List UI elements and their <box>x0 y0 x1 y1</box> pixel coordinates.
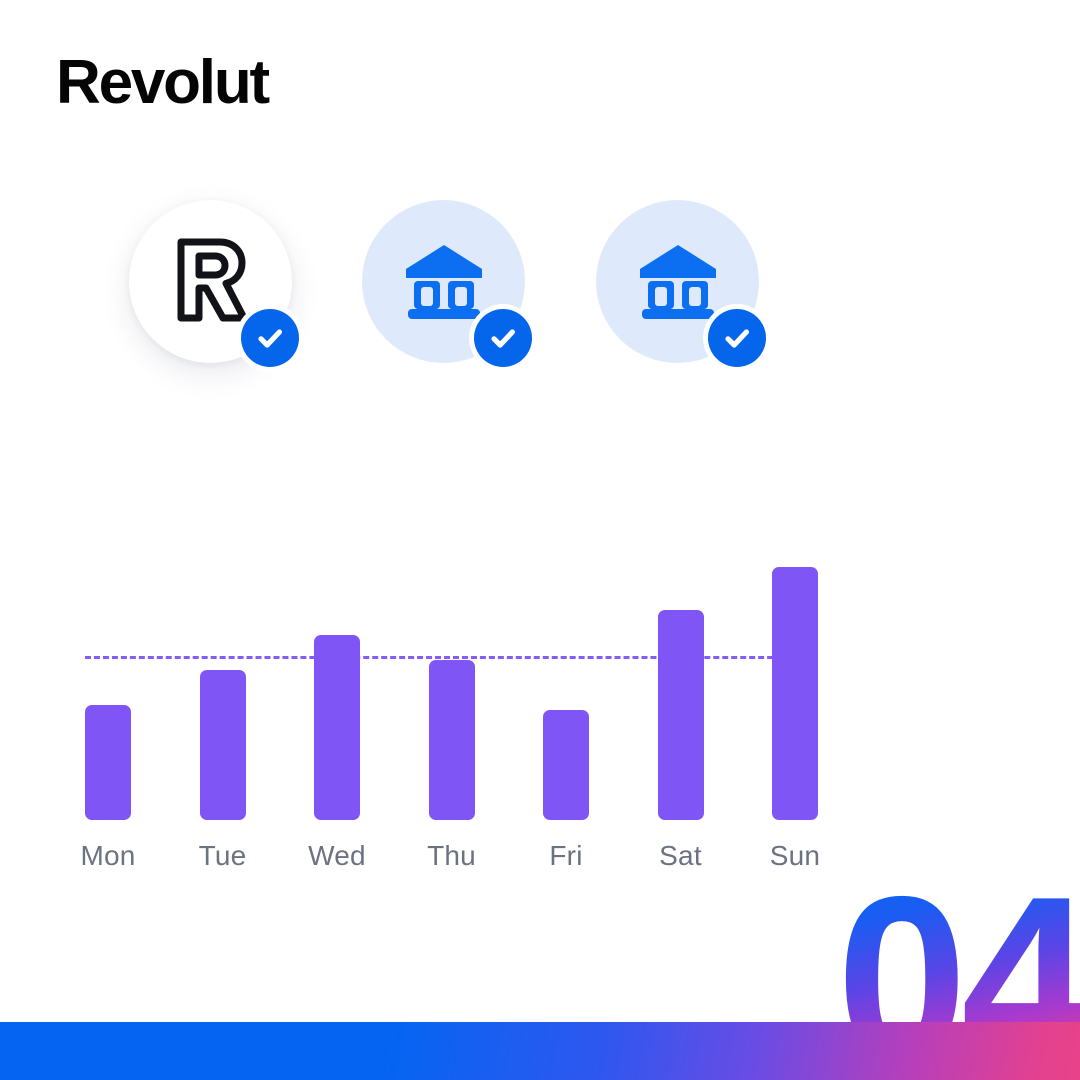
bank-icon <box>402 243 486 321</box>
chart-bar <box>543 710 589 820</box>
chart-bar <box>658 610 704 820</box>
account-badge-revolut[interactable] <box>129 200 292 363</box>
chart-x-label: Wed <box>277 840 397 872</box>
verified-badge <box>236 304 304 372</box>
check-icon <box>486 321 520 355</box>
chart-bar <box>314 635 360 820</box>
chart-bar <box>429 660 475 820</box>
bottom-gradient-band <box>0 1022 1080 1080</box>
chart-x-label: Mon <box>48 840 168 872</box>
revolut-wordmark: Revolut <box>56 52 268 114</box>
verified-badge <box>469 304 537 372</box>
chart-x-axis: MonTueWedThuFriSatSun <box>85 840 818 880</box>
average-reference-line <box>85 656 818 659</box>
chart-x-label: Tue <box>163 840 283 872</box>
weekly-activity-chart: MonTueWedThuFriSatSun <box>0 540 1080 880</box>
linked-accounts-row <box>0 196 1080 396</box>
chart-bar <box>85 705 131 820</box>
verified-disc <box>708 309 766 367</box>
chart-x-label: Fri <box>506 840 626 872</box>
verified-badge <box>703 304 771 372</box>
bank-icon <box>636 243 720 321</box>
chart-bar <box>200 670 246 820</box>
chart-plot-area <box>85 540 818 820</box>
slide-canvas: Revolut <box>0 0 1080 1080</box>
check-icon <box>253 321 287 355</box>
verified-disc <box>241 309 299 367</box>
verified-disc <box>474 309 532 367</box>
chart-x-label: Sat <box>621 840 741 872</box>
chart-bar <box>772 567 818 820</box>
account-badge-bank-1[interactable] <box>362 200 525 363</box>
account-badge-bank-2[interactable] <box>596 200 759 363</box>
check-icon <box>720 321 754 355</box>
revolut-r-icon <box>168 234 254 326</box>
chart-x-label: Thu <box>392 840 512 872</box>
